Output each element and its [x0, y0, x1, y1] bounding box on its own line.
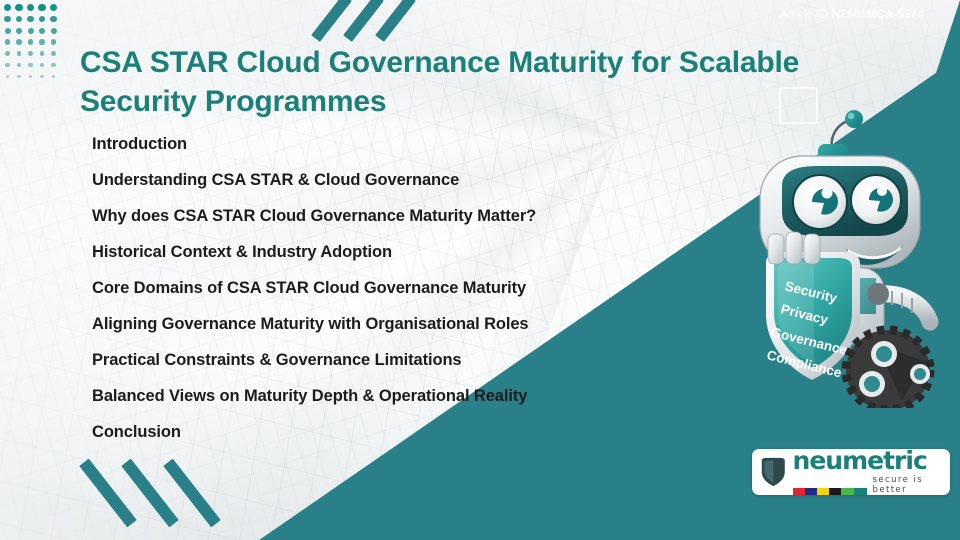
- logo-wordmark: neumetric: [793, 449, 942, 473]
- robot-mascot-illustration: Security Privacy Governance Compliance: [726, 108, 960, 408]
- presentation-slide: Article ID N2601MCA-5574 CSA STAR Cloud …: [0, 0, 960, 540]
- article-id: Article ID N2601MCA-5574: [780, 9, 924, 21]
- robot-svg: Security Privacy Governance Compliance: [726, 108, 960, 408]
- antenna-bulb: [845, 110, 863, 128]
- dot-grid-decoration: [4, 4, 64, 86]
- neumetric-logo[interactable]: neumetric secure is better: [752, 449, 950, 495]
- logo-tagline: secure is better: [873, 475, 942, 495]
- toc-item-1[interactable]: Understanding CSA STAR & Cloud Governanc…: [92, 172, 692, 189]
- toc-item-0[interactable]: Introduction: [92, 136, 692, 153]
- article-id-label: Article ID: [780, 9, 829, 21]
- article-id-value: N2601MCA-5574: [832, 9, 924, 21]
- diagonal-stripes-bottom: [100, 462, 240, 524]
- diagonal-stripes-top: [322, 0, 442, 42]
- robot-fingers: [768, 232, 820, 264]
- toc-item-2[interactable]: Why does CSA STAR Cloud Governance Matur…: [92, 208, 692, 225]
- toc-item-7[interactable]: Balanced Views on Maturity Depth & Opera…: [92, 388, 692, 405]
- toc-item-8[interactable]: Conclusion: [92, 424, 692, 441]
- table-of-contents: IntroductionUnderstanding CSA STAR & Clo…: [92, 136, 692, 460]
- toc-item-4[interactable]: Core Domains of CSA STAR Cloud Governanc…: [92, 280, 692, 297]
- logo-color-bars: [793, 482, 867, 489]
- shield-logo-icon: [760, 455, 787, 489]
- robot-wheel: [846, 330, 930, 408]
- robot-shoulder-right: [867, 283, 889, 305]
- toc-item-6[interactable]: Practical Constraints & Governance Limit…: [92, 352, 692, 369]
- toc-item-3[interactable]: Historical Context & Industry Adoption: [92, 244, 692, 261]
- toc-item-5[interactable]: Aligning Governance Maturity with Organi…: [92, 316, 692, 333]
